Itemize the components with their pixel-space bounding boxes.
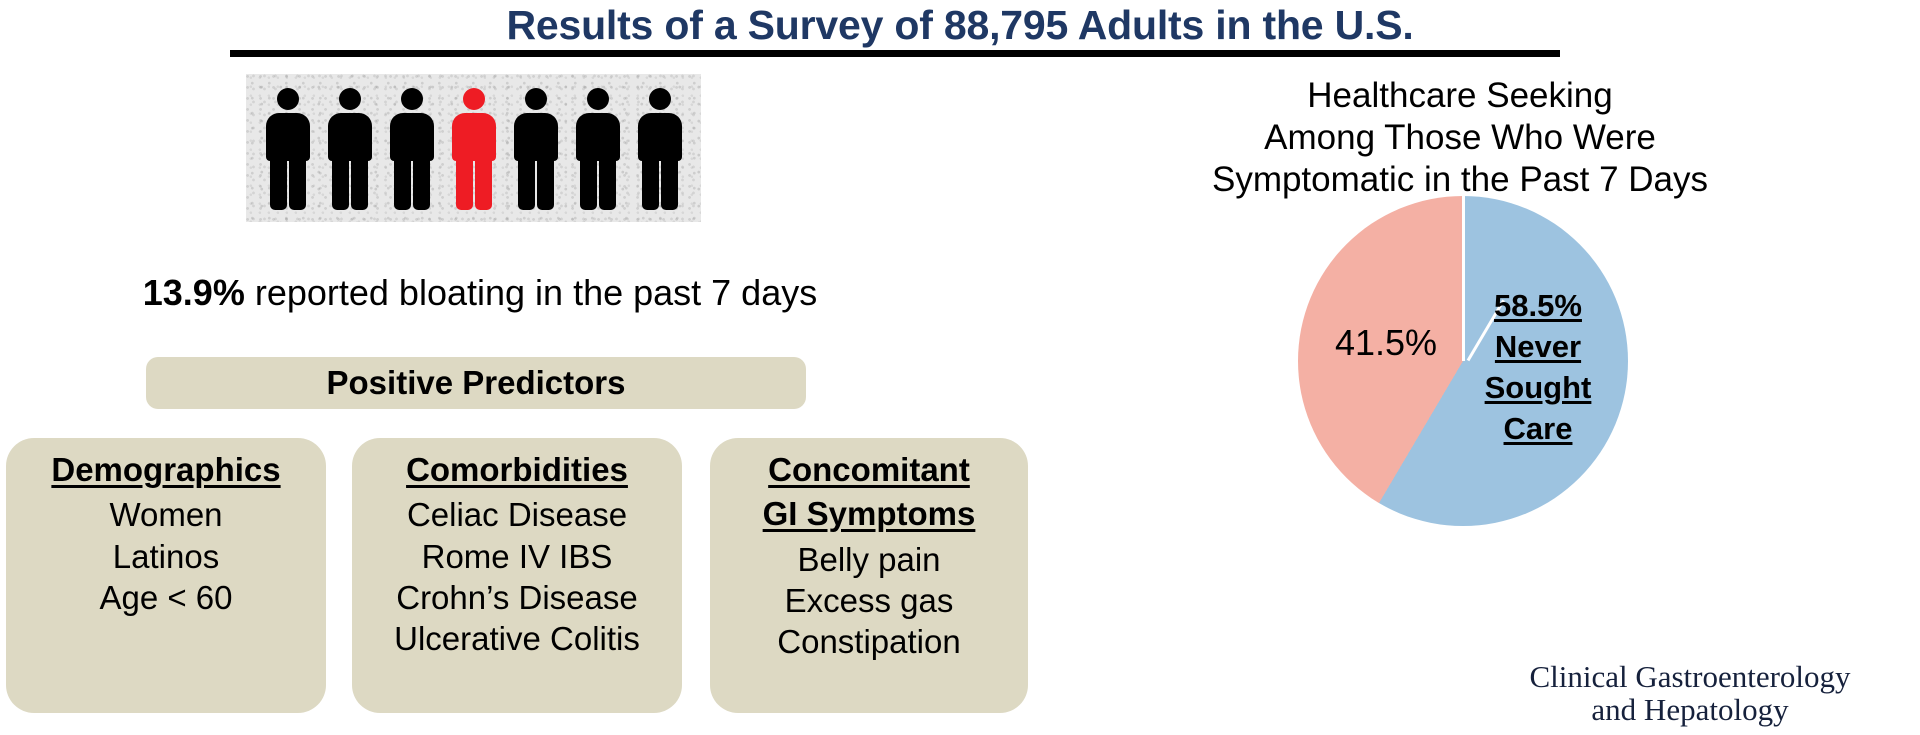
person-leg-left-icon [580, 158, 597, 210]
list-item: Celiac Disease [352, 494, 682, 535]
list-item: Latinos [6, 536, 326, 577]
title-divider-rule [230, 50, 1560, 57]
person-head-icon [587, 88, 609, 110]
list-item: Ulcerative Colitis [352, 618, 682, 659]
list-item: Rome IV IBS [352, 536, 682, 577]
person-figure [324, 88, 376, 210]
person-body-icon [514, 113, 558, 161]
pie-heading-line-1: Healthcare Seeking [1000, 75, 1920, 117]
person-leg-left-icon [456, 158, 473, 210]
pie-slice-divider-top [1462, 196, 1465, 361]
predictor-card-demographics: Demographics Women Latinos Age < 60 [6, 438, 326, 713]
list-item: Age < 60 [6, 577, 326, 618]
page-title: Results of a Survey of 88,795 Adults in … [0, 2, 1920, 49]
person-figure [262, 88, 314, 210]
pie-blue-label-line-2: Never [1473, 327, 1603, 368]
pie-heading-line-3: Symptomatic in the Past 7 Days [1000, 159, 1920, 201]
pie-slice-label-sought-care: 41.5% [1326, 322, 1446, 364]
person-leg-right-icon [289, 158, 306, 210]
list-item: Crohn’s Disease [352, 577, 682, 618]
person-leg-left-icon [270, 158, 287, 210]
person-leg-right-icon [661, 158, 678, 210]
person-figure [634, 88, 686, 210]
list-item: Excess gas [710, 580, 1028, 621]
person-head-icon [463, 88, 485, 110]
pie-chart: 41.5% 58.5% Never Sought Care [1298, 196, 1628, 526]
person-head-icon [525, 88, 547, 110]
person-leg-right-icon [413, 158, 430, 210]
person-body-icon [452, 113, 496, 161]
person-leg-right-icon [537, 158, 554, 210]
person-leg-left-icon [332, 158, 349, 210]
person-head-icon [277, 88, 299, 110]
person-body-icon [390, 113, 434, 161]
person-figure [510, 88, 562, 210]
person-figure-highlighted [448, 88, 500, 210]
pie-heading-line-2: Among Those Who Were [1000, 117, 1920, 159]
person-figure [386, 88, 438, 210]
pie-blue-label-line-3: Sought [1473, 368, 1603, 409]
positive-predictors-banner: Positive Predictors [146, 357, 806, 409]
pie-slice-label-never-sought-care: 58.5% Never Sought Care [1473, 286, 1603, 450]
person-body-icon [638, 113, 682, 161]
pie-blue-label-line-4: Care [1473, 409, 1603, 450]
pie-chart-heading: Healthcare Seeking Among Those Who Were … [1000, 75, 1920, 201]
list-item: Constipation [710, 621, 1028, 662]
pictogram-panel [246, 74, 701, 222]
card-heading-demographics: Demographics [6, 450, 326, 490]
person-head-icon [339, 88, 361, 110]
card-heading-gi-symptoms-line1: Concomitant [710, 450, 1028, 490]
person-leg-left-icon [642, 158, 659, 210]
predictor-card-gi-symptoms: Concomitant GI Symptoms Belly pain Exces… [710, 438, 1028, 713]
person-leg-right-icon [475, 158, 492, 210]
journal-credit-line-1: Clinical Gastroenterology [1460, 660, 1920, 693]
person-body-icon [266, 113, 310, 161]
card-heading-comorbidities: Comorbidities [352, 450, 682, 490]
journal-credit: Clinical Gastroenterology and Hepatology [1460, 660, 1920, 727]
pie-blue-label-line-1: 58.5% [1473, 286, 1603, 327]
person-body-icon [576, 113, 620, 161]
bloating-percent-value: 13.9% [143, 272, 245, 313]
person-leg-left-icon [394, 158, 411, 210]
person-leg-right-icon [351, 158, 368, 210]
positive-predictors-label: Positive Predictors [327, 364, 626, 402]
person-head-icon [649, 88, 671, 110]
person-leg-left-icon [518, 158, 535, 210]
person-leg-right-icon [599, 158, 616, 210]
person-head-icon [401, 88, 423, 110]
person-body-icon [328, 113, 372, 161]
list-item: Women [6, 494, 326, 535]
person-figure [572, 88, 624, 210]
bloating-statistic-caption: 13.9% reported bloating in the past 7 da… [0, 272, 960, 314]
bloating-caption-text: reported bloating in the past 7 days [245, 272, 817, 313]
predictor-card-comorbidities: Comorbidities Celiac Disease Rome IV IBS… [352, 438, 682, 713]
list-item: Belly pain [710, 539, 1028, 580]
journal-credit-line-2: and Hepatology [1460, 693, 1920, 726]
card-heading-gi-symptoms-line2: GI Symptoms [710, 494, 1028, 534]
